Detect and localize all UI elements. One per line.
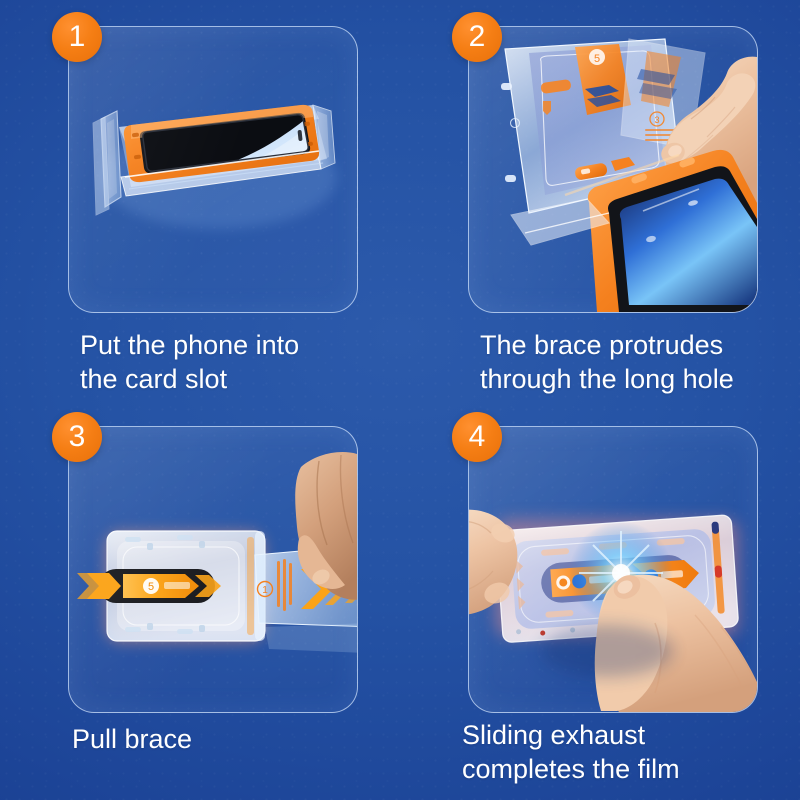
slide-exhaust-illustration xyxy=(469,427,757,712)
step-panel-1: 1 Put the phone into the card slot xyxy=(0,0,400,400)
step-caption-4: Sliding exhaust completes the film xyxy=(462,718,782,786)
step-1-illustration xyxy=(69,27,357,312)
step-number-badge-3: 3 xyxy=(52,412,102,462)
step-3-illustration: 5 1 xyxy=(69,427,357,712)
step-number-badge-1: 1 xyxy=(52,12,102,62)
svg-text:1: 1 xyxy=(262,585,268,596)
step-caption-2: The brace protrudes through the long hol… xyxy=(480,328,800,396)
brace-arrow-strip: 5 xyxy=(77,569,221,603)
step-panel-3: 5 1 xyxy=(0,400,400,800)
installation-guide-root: 1 Put the phone into the card slot xyxy=(0,0,800,800)
svg-text:3: 3 xyxy=(654,115,659,125)
step-4-illustration xyxy=(469,427,757,712)
svg-text:5: 5 xyxy=(148,581,154,593)
svg-text:5: 5 xyxy=(594,53,600,65)
step-number-badge-2: 2 xyxy=(452,12,502,62)
step-2-illustration: 5 xyxy=(469,27,757,312)
step-panel-2: 5 xyxy=(400,0,800,400)
step-panel-4: 4 Sliding exhaust completes the film xyxy=(400,400,800,800)
phone-in-tray-illustration xyxy=(69,27,357,312)
step-1-image-frame xyxy=(68,26,358,313)
step-number-badge-4: 4 xyxy=(452,412,502,462)
step-caption-1: Put the phone into the card slot xyxy=(80,328,400,396)
step-3-image-frame: 5 1 xyxy=(68,426,358,713)
lid-open-hand-illustration: 5 xyxy=(469,27,757,312)
tray-lid-flap xyxy=(93,111,121,215)
step-2-image-frame: 5 xyxy=(468,26,758,313)
step-4-image-frame xyxy=(468,426,758,713)
step-caption-3: Pull brace xyxy=(72,722,332,756)
pull-brace-illustration: 5 1 xyxy=(69,427,357,712)
